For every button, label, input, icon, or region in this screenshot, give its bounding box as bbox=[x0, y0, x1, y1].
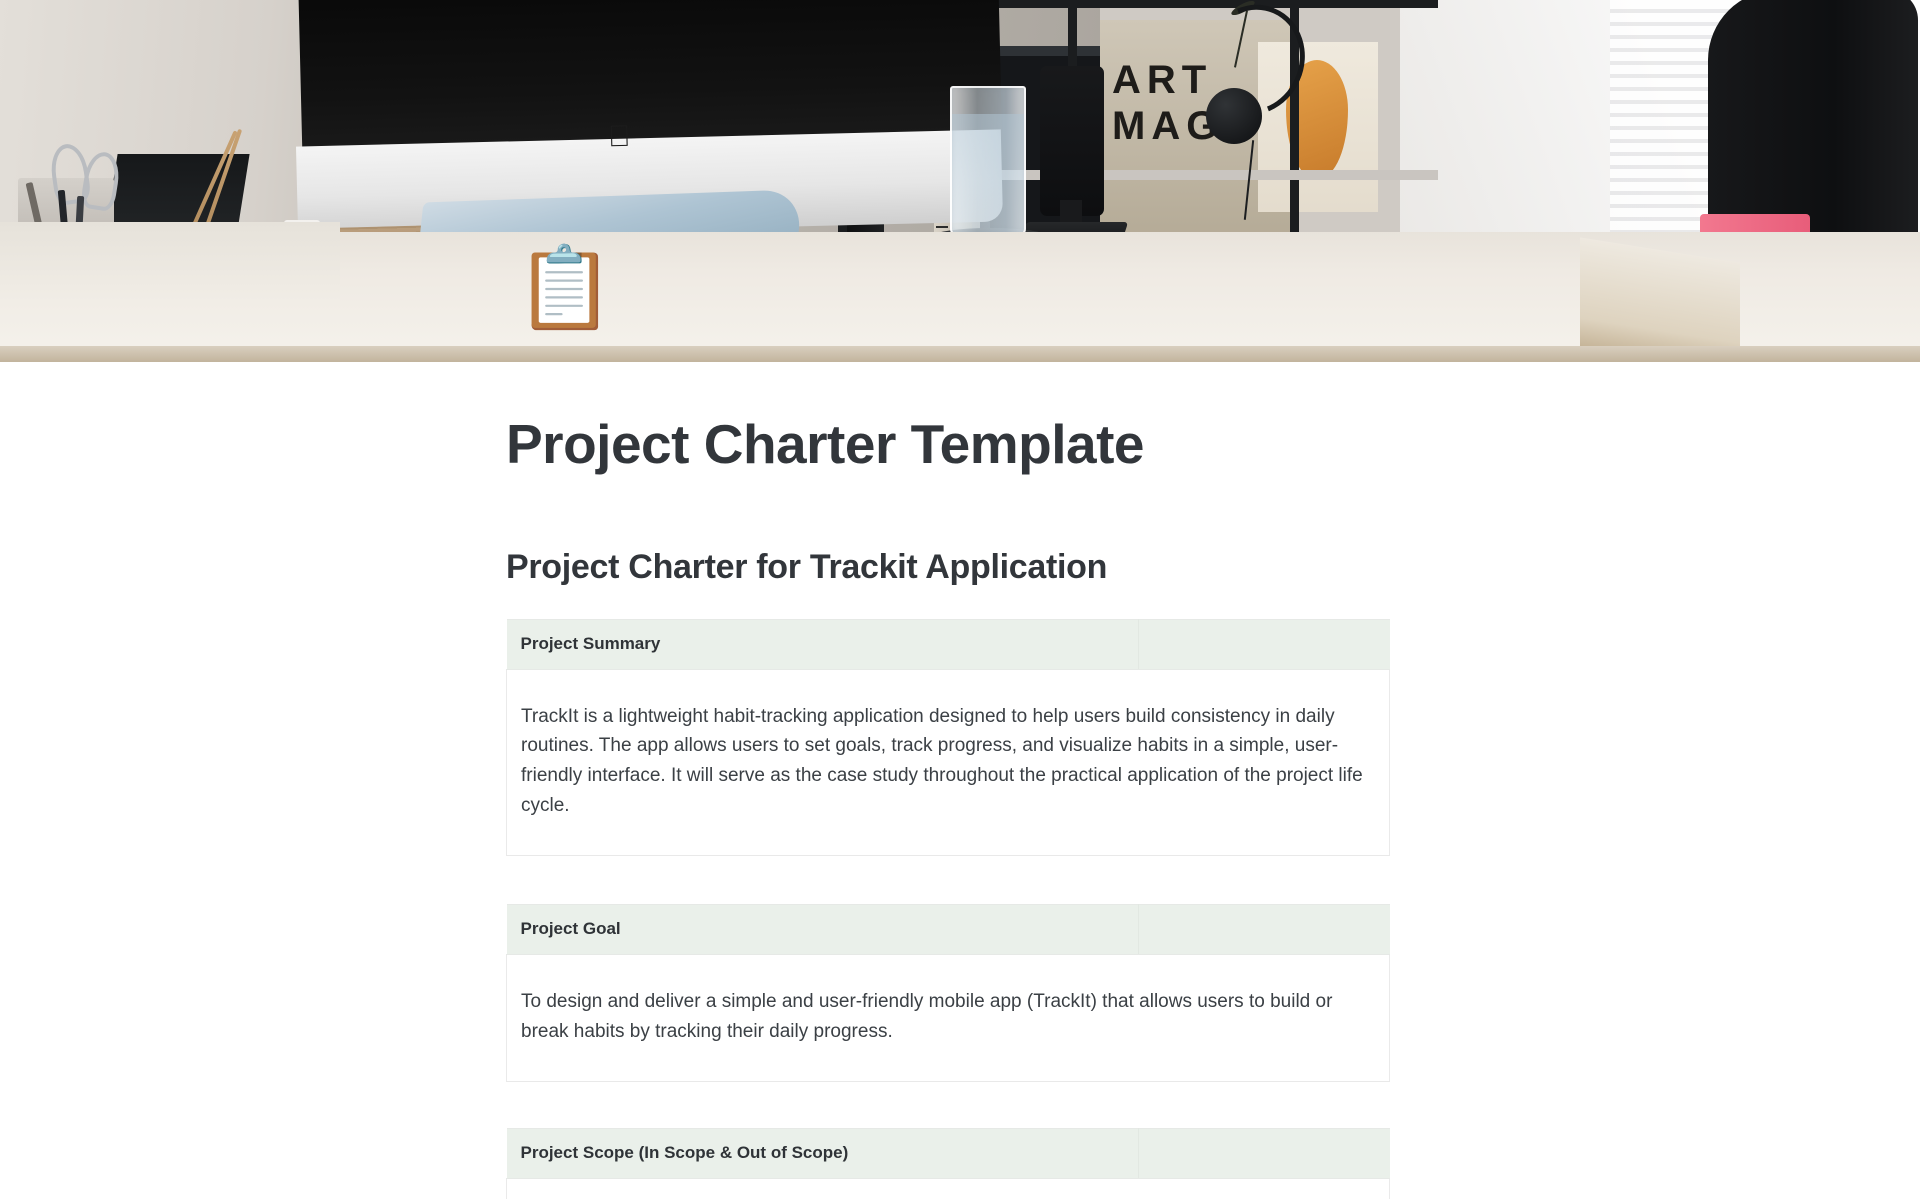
project-goal-table: Project Goal To design and deliver a sim… bbox=[506, 904, 1390, 1082]
project-goal-text: To design and deliver a simple and user-… bbox=[521, 991, 1332, 1042]
table-header-row: Project Scope (In Scope & Out of Scope) bbox=[507, 1128, 1390, 1178]
project-summary-header-spacer[interactable] bbox=[1139, 619, 1390, 669]
cover-photo: ANYV ART MAG  bbox=[0, 0, 1920, 362]
page-cover-image[interactable]: ANYV ART MAG  bbox=[0, 0, 1920, 362]
table-header-row: Project Goal bbox=[507, 904, 1390, 954]
clipboard-icon[interactable]: 📋 bbox=[515, 248, 615, 328]
apple-logo-icon:  bbox=[608, 122, 635, 153]
project-summary-text: TrackIt is a lightweight habit-tracking … bbox=[521, 706, 1363, 816]
table-row: TrackIt is a lightweight habit-tracking … bbox=[507, 669, 1390, 855]
smartphone bbox=[1040, 66, 1104, 216]
imac-screen bbox=[298, 0, 1002, 154]
page-title[interactable]: Project Charter Template bbox=[506, 414, 1920, 476]
project-scope-header-spacer[interactable] bbox=[1139, 1128, 1390, 1178]
project-scope-body[interactable]: - Develop a mobile application (MVP) wit… bbox=[507, 1178, 1390, 1199]
table-row: To design and deliver a simple and user-… bbox=[507, 954, 1390, 1081]
desk-left-surface bbox=[0, 222, 340, 302]
project-scope-table: Project Scope (In Scope & Out of Scope) … bbox=[506, 1128, 1390, 1199]
table-row: - Develop a mobile application (MVP) wit… bbox=[507, 1178, 1390, 1199]
project-scope-header[interactable]: Project Scope (In Scope & Out of Scope) bbox=[507, 1128, 1139, 1178]
desk-front-edge bbox=[0, 346, 1920, 362]
section-heading[interactable]: Project Charter for Trackit Application bbox=[506, 548, 1920, 587]
project-goal-header-spacer[interactable] bbox=[1139, 904, 1390, 954]
project-goal-body[interactable]: To design and deliver a simple and user-… bbox=[507, 954, 1390, 1081]
table-header-row: Project Summary bbox=[507, 619, 1390, 669]
water-fill bbox=[952, 114, 1024, 234]
project-summary-body[interactable]: TrackIt is a lightweight habit-tracking … bbox=[507, 669, 1390, 855]
project-goal-header[interactable]: Project Goal bbox=[507, 904, 1139, 954]
poster-art-line-1: ART bbox=[1112, 58, 1212, 103]
project-summary-table: Project Summary TrackIt is a lightweight… bbox=[506, 619, 1390, 856]
page-content: Project Charter Template Project Charter… bbox=[0, 362, 1920, 1199]
headphones-earcup bbox=[1206, 88, 1262, 144]
project-summary-header[interactable]: Project Summary bbox=[507, 619, 1139, 669]
water-glass bbox=[950, 86, 1026, 236]
